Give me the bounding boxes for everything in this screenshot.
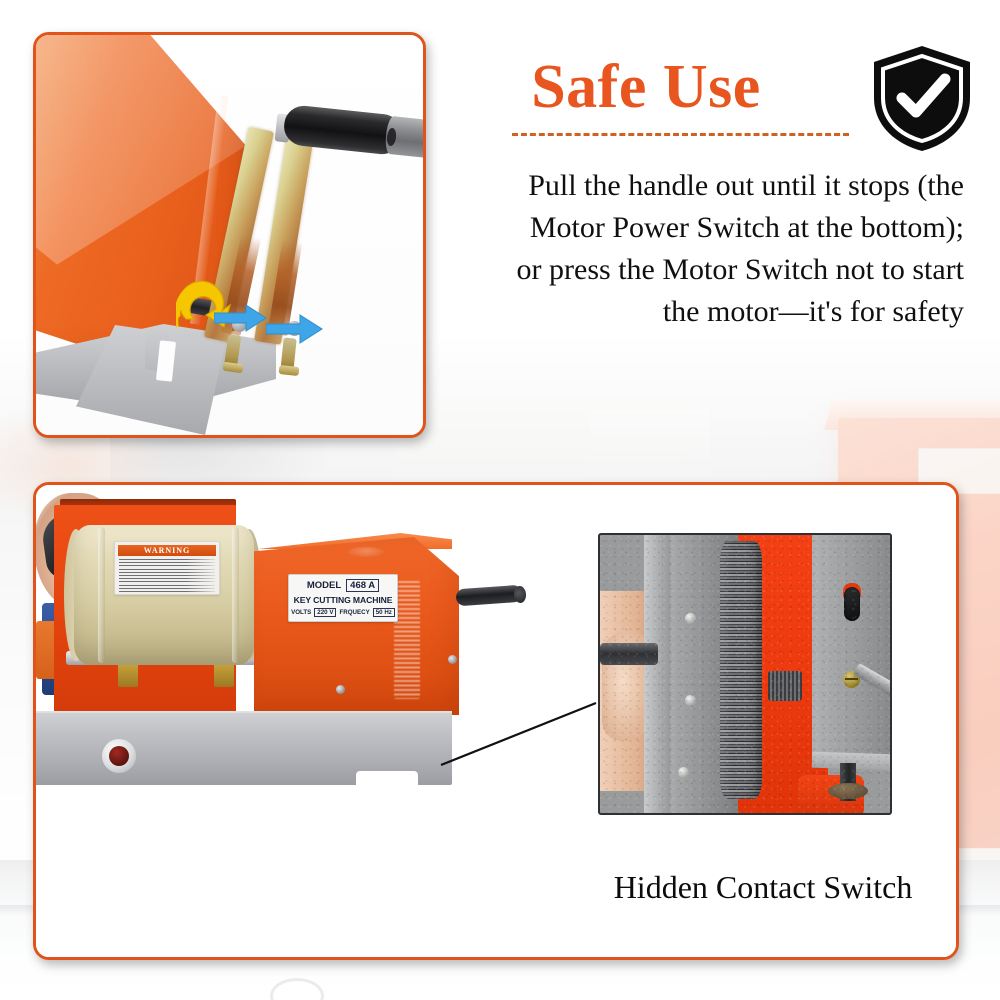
- nameplate-volts-word: VOLTS: [291, 609, 311, 616]
- warning-fine-print: [119, 559, 215, 595]
- nameplate-frequency-word: FRQUECY: [339, 609, 369, 616]
- nameplate-model-row: MODEL 468 A: [307, 579, 379, 592]
- gearbox-cover-dimple: [348, 547, 384, 557]
- instruction-line-1: Pull the handle out until it stops (the: [432, 165, 964, 207]
- warning-title: WARNING: [144, 545, 191, 556]
- page-title: Safe Use: [436, 52, 856, 122]
- motor-seam-left: [98, 527, 105, 663]
- cover-screw-side: [448, 655, 457, 664]
- nameplate-model-word: MODEL: [307, 580, 341, 591]
- nameplate-frequency-value: 50 Hz: [373, 608, 395, 617]
- instruction-line-3: or press the Motor Switch not to start: [432, 249, 964, 291]
- cover-screw-lower: [336, 685, 345, 694]
- machine-photo: WARNING MODEL 468 A KEY CUTTING MACHINE …: [36, 485, 956, 957]
- nameplate-specs-row: VOLTS 220 V FRQUECY 50 Hz: [291, 608, 395, 617]
- instruction-line-4: the motor—it's for safety: [432, 291, 964, 333]
- instruction-text: Pull the handle out until it stops (the …: [432, 165, 964, 333]
- poster-canvas: Safe Use Pull the handle out until it st…: [0, 0, 1000, 1000]
- bolt-head-front: [279, 365, 300, 376]
- inset-caption: Hidden Contact Switch: [563, 865, 956, 909]
- warning-label: WARNING: [114, 541, 220, 595]
- motor-foot-right: [214, 663, 234, 687]
- nameplate-model-value: 468 A: [346, 579, 379, 592]
- detail-inset-photo: [598, 533, 892, 815]
- power-button[interactable]: [102, 739, 136, 773]
- model-nameplate: MODEL 468 A KEY CUTTING MACHINE VOLTS 22…: [288, 574, 398, 622]
- handle-photo: [36, 35, 423, 435]
- pull-direction-arrow-icon: [266, 313, 324, 345]
- base-cutout: [356, 771, 418, 787]
- nameplate-product-name: KEY CUTTING MACHINE: [294, 595, 393, 605]
- pull-direction-arrow-icon: [214, 303, 268, 333]
- inset-texture: [600, 535, 890, 813]
- title-divider: [512, 133, 849, 136]
- photo-panel-machine: WARNING MODEL 468 A KEY CUTTING MACHINE …: [33, 482, 959, 960]
- power-button-lens: [109, 746, 129, 766]
- photo-panel-handle: [33, 32, 426, 438]
- motor-seam-right: [232, 527, 239, 663]
- warning-title-bar: WARNING: [118, 545, 216, 556]
- nameplate-volts-value: 220 V: [314, 608, 336, 617]
- gearbox-cover: [254, 537, 459, 715]
- instruction-line-2: Motor Power Switch at the bottom);: [432, 207, 964, 249]
- shield-check-icon: [866, 42, 978, 154]
- motor-foot-left: [118, 663, 138, 687]
